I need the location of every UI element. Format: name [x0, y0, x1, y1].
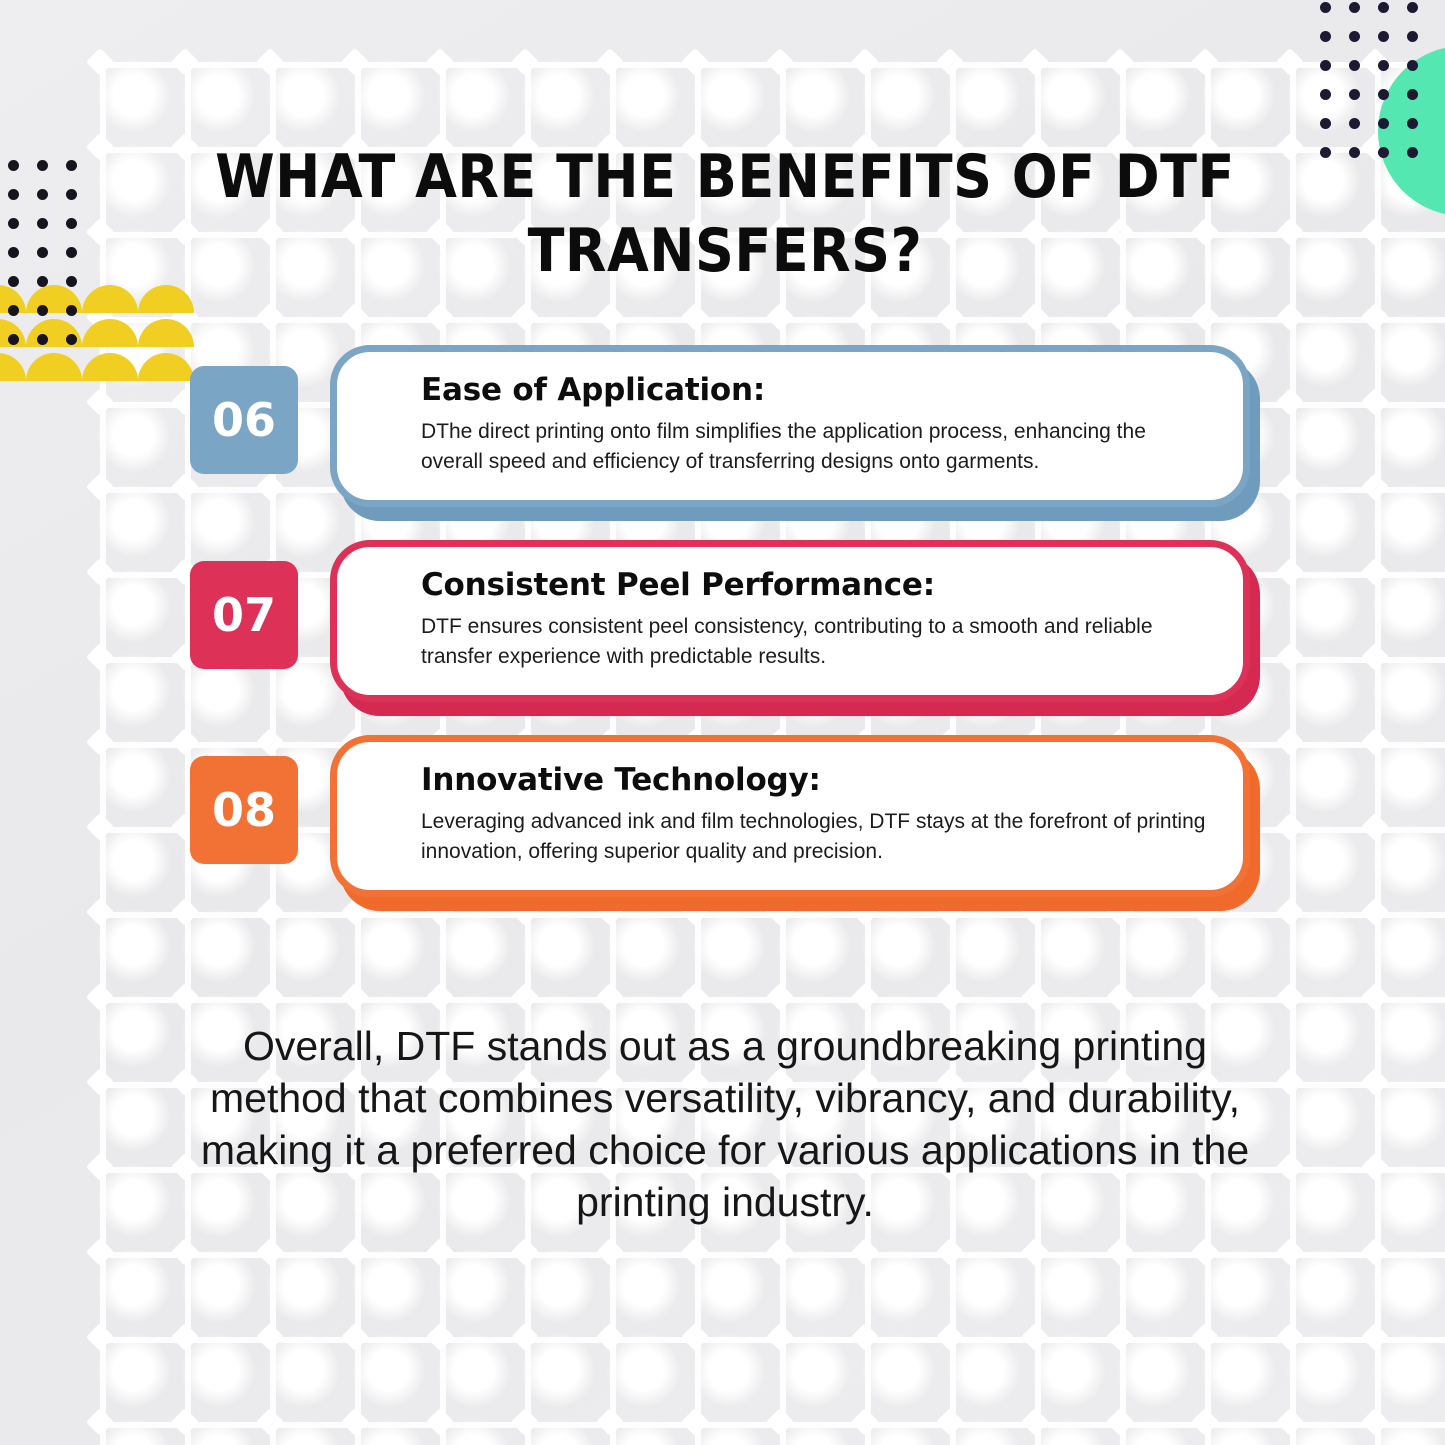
decorative-dot: [66, 305, 77, 316]
decorative-dot: [8, 218, 19, 229]
decorative-dot: [1320, 118, 1331, 129]
decorative-dot: [37, 305, 48, 316]
grid-diamond: [86, 218, 114, 246]
decorative-dot: [1320, 60, 1331, 71]
grid-diamond: [1276, 1323, 1304, 1351]
grid-diamond: [86, 983, 114, 1011]
decorative-dot: [1407, 2, 1418, 13]
benefit-description: DTF ensures consistent peel consistency,…: [421, 612, 1209, 672]
decorative-dot: [37, 276, 48, 287]
grid-diamond: [1106, 48, 1134, 76]
grid-diamond: [766, 1323, 794, 1351]
grid-diamond: [256, 1238, 284, 1266]
grid-diamond: [86, 1238, 114, 1266]
grid-diamond: [596, 1238, 624, 1266]
grid-diamond: [1021, 983, 1049, 1011]
decorative-dot: [1349, 118, 1360, 129]
grid-diamond: [1106, 983, 1134, 1011]
decorative-dot: [1320, 31, 1331, 42]
grid-diamond: [1276, 1238, 1304, 1266]
grid-diamond: [341, 1323, 369, 1351]
benefit-description: Leveraging advanced ink and film technol…: [421, 807, 1209, 867]
grid-diamond: [1276, 983, 1304, 1011]
grid-diamond: [256, 1323, 284, 1351]
decorative-dot: [1349, 147, 1360, 158]
decorative-dot: [1349, 60, 1360, 71]
grid-diamond: [256, 48, 284, 76]
grid-diamond: [596, 48, 624, 76]
benefit-row: 07Consistent Peel Performance:DTF ensure…: [0, 535, 1445, 730]
decorative-dot: [8, 276, 19, 287]
grid-diamond: [596, 1323, 624, 1351]
grid-diamond: [1361, 1323, 1389, 1351]
benefit-card-body: Innovative Technology:Leveraging advance…: [330, 735, 1250, 897]
grid-diamond: [1106, 1238, 1134, 1266]
grid-diamond: [851, 48, 879, 76]
benefit-heading: Ease of Application:: [421, 372, 1209, 408]
decorative-dot: [1349, 89, 1360, 100]
decorative-dot: [8, 189, 19, 200]
benefit-number-badge: 07: [190, 561, 298, 669]
grid-diamond: [426, 303, 454, 331]
grid-diamond: [1191, 983, 1219, 1011]
grid-diamond: [1021, 1238, 1049, 1266]
top-right-dot-matrix: [1320, 2, 1445, 174]
grid-diamond: [171, 983, 199, 1011]
grid-diamond: [681, 983, 709, 1011]
benefit-row: 08Innovative Technology:Leveraging advan…: [0, 730, 1445, 925]
decorative-dot: [66, 276, 77, 287]
decorative-dot: [1378, 118, 1389, 129]
grid-diamond: [1191, 303, 1219, 331]
grid-diamond: [86, 48, 114, 76]
grid-diamond: [936, 48, 964, 76]
grid-diamond: [341, 1238, 369, 1266]
grid-diamond: [1021, 303, 1049, 331]
benefit-heading: Consistent Peel Performance:: [421, 567, 1209, 603]
grid-diamond: [766, 983, 794, 1011]
decorative-dot: [37, 247, 48, 258]
grid-diamond: [1361, 1068, 1389, 1096]
grid-diamond: [256, 983, 284, 1011]
decorative-dot: [1378, 60, 1389, 71]
grid-diamond: [86, 1153, 114, 1181]
grid-diamond: [851, 303, 879, 331]
decorative-dot: [66, 218, 77, 229]
grid-diamond: [1191, 1323, 1219, 1351]
grid-diamond: [596, 1408, 624, 1436]
grid-diamond: [1106, 1408, 1134, 1436]
grid-diamond: [511, 983, 539, 1011]
decorative-dot: [8, 305, 19, 316]
grid-diamond: [1361, 983, 1389, 1011]
grid-diamond: [426, 1323, 454, 1351]
decorative-dot: [8, 247, 19, 258]
grid-diamond: [1361, 303, 1389, 331]
grid-diamond: [766, 48, 794, 76]
grid-diamond: [1021, 48, 1049, 76]
grid-diamond: [1361, 1238, 1389, 1266]
decorative-dot: [1407, 60, 1418, 71]
benefit-heading: Innovative Technology:: [421, 762, 1209, 798]
benefit-card-body: Consistent Peel Performance:DTF ensures …: [330, 540, 1250, 702]
grid-diamond: [1361, 218, 1389, 246]
grid-diamond: [1276, 48, 1304, 76]
grid-diamond: [86, 1408, 114, 1436]
decorative-dot: [1407, 118, 1418, 129]
decorative-dot: [1320, 147, 1331, 158]
decorative-dot: [1349, 2, 1360, 13]
grid-diamond: [936, 1323, 964, 1351]
grid-diamond: [426, 1408, 454, 1436]
benefit-card: Consistent Peel Performance:DTF ensures …: [330, 540, 1250, 702]
decorative-dot: [66, 247, 77, 258]
decorative-dot: [1378, 147, 1389, 158]
grid-diamond: [1191, 48, 1219, 76]
page-title: WHAT ARE THE BENEFITS OF DTF TRANSFERS?: [150, 140, 1300, 288]
grid-diamond: [936, 1408, 964, 1436]
grid-diamond: [341, 303, 369, 331]
grid-diamond: [171, 48, 199, 76]
grid-diamond: [1276, 1408, 1304, 1436]
grid-diamond: [1276, 1153, 1304, 1181]
benefit-card: Ease of Application:DThe direct printing…: [330, 345, 1250, 507]
decorative-dot: [1407, 147, 1418, 158]
decorative-dot: [8, 160, 19, 171]
grid-diamond: [851, 1238, 879, 1266]
grid-diamond: [936, 1238, 964, 1266]
grid-diamond: [341, 48, 369, 76]
decorative-dot: [37, 189, 48, 200]
infographic-poster: WHAT ARE THE BENEFITS OF DTF TRANSFERS? …: [0, 0, 1445, 1445]
grid-diamond: [596, 983, 624, 1011]
benefit-number-badge: 06: [190, 366, 298, 474]
grid-diamond: [341, 983, 369, 1011]
grid-diamond: [171, 1408, 199, 1436]
grid-diamond: [256, 303, 284, 331]
grid-diamond: [936, 983, 964, 1011]
grid-diamond: [426, 48, 454, 76]
decorative-dot: [1378, 31, 1389, 42]
grid-diamond: [511, 1238, 539, 1266]
grid-diamond: [171, 1323, 199, 1351]
decorative-dot: [1407, 89, 1418, 100]
semicircle-shape: [138, 285, 194, 313]
grid-diamond: [256, 1408, 284, 1436]
grid-diamond: [426, 983, 454, 1011]
decorative-dot: [1320, 2, 1331, 13]
grid-diamond: [511, 1323, 539, 1351]
benefit-row: 06Ease of Application:DThe direct printi…: [0, 340, 1445, 535]
grid-diamond: [596, 303, 624, 331]
grid-diamond: [681, 1238, 709, 1266]
decorative-dot: [37, 160, 48, 171]
grid-diamond: [1361, 1153, 1389, 1181]
decorative-dot: [1407, 31, 1418, 42]
grid-diamond: [1106, 303, 1134, 331]
decorative-dot: [1349, 31, 1360, 42]
grid-diamond: [1276, 1068, 1304, 1096]
grid-diamond: [1191, 1238, 1219, 1266]
left-dot-matrix: [8, 160, 88, 360]
grid-diamond: [681, 303, 709, 331]
decorative-dot: [1378, 2, 1389, 13]
grid-diamond: [851, 1323, 879, 1351]
decorative-dot: [1320, 89, 1331, 100]
grid-diamond: [1021, 1408, 1049, 1436]
grid-diamond: [766, 303, 794, 331]
grid-diamond: [511, 303, 539, 331]
grid-diamond: [851, 983, 879, 1011]
grid-diamond: [1361, 1408, 1389, 1436]
grid-diamond: [86, 133, 114, 161]
benefit-card: Innovative Technology:Leveraging advance…: [330, 735, 1250, 897]
benefit-number-badge: 08: [190, 756, 298, 864]
grid-diamond: [851, 1408, 879, 1436]
grid-diamond: [681, 1323, 709, 1351]
semicircle-shape: [82, 285, 138, 313]
grid-diamond: [86, 1323, 114, 1351]
benefits-list: 06Ease of Application:DThe direct printi…: [0, 340, 1445, 925]
grid-diamond: [681, 1408, 709, 1436]
grid-diamond: [86, 1068, 114, 1096]
decorative-dot: [66, 189, 77, 200]
benefit-description: DThe direct printing onto film simplifie…: [421, 417, 1209, 477]
grid-diamond: [341, 1408, 369, 1436]
grid-diamond: [936, 303, 964, 331]
grid-diamond: [1021, 1323, 1049, 1351]
closing-paragraph: Overall, DTF stands out as a groundbreak…: [175, 1020, 1275, 1228]
grid-diamond: [426, 1238, 454, 1266]
grid-diamond: [171, 1238, 199, 1266]
grid-diamond: [1191, 1408, 1219, 1436]
grid-diamond: [1276, 303, 1304, 331]
grid-diamond: [511, 1408, 539, 1436]
grid-diamond: [681, 48, 709, 76]
benefit-card-body: Ease of Application:DThe direct printing…: [330, 345, 1250, 507]
decorative-dot: [66, 160, 77, 171]
grid-diamond: [1106, 1323, 1134, 1351]
grid-diamond: [766, 1408, 794, 1436]
decorative-dot: [1378, 89, 1389, 100]
grid-diamond: [511, 48, 539, 76]
decorative-dot: [37, 218, 48, 229]
grid-diamond: [766, 1238, 794, 1266]
